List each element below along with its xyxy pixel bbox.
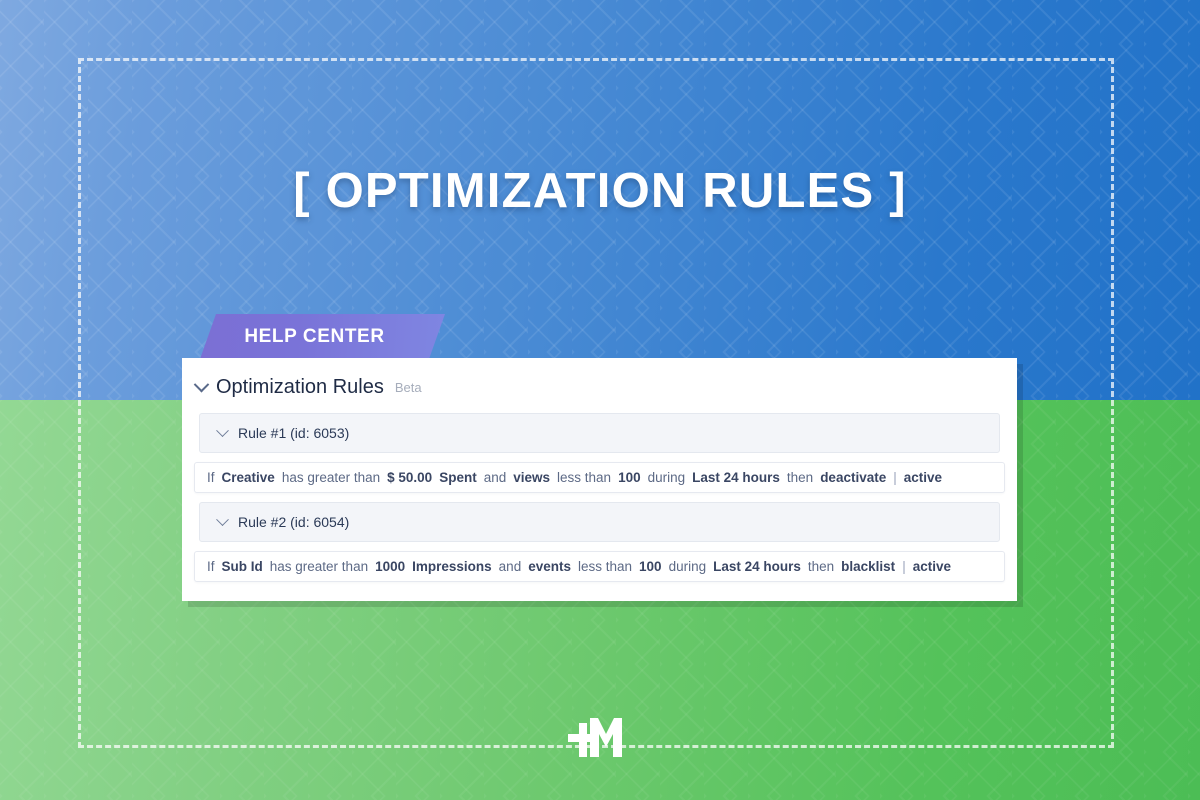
separator: | [902, 559, 906, 574]
rule-condition-1[interactable]: If Creative has greater than $ 50.00 Spe… [194, 462, 1005, 493]
card-body: Rule #1 (id: 6053) If Creative has great… [182, 399, 1017, 582]
rule-operator-2[interactable]: less than [578, 559, 632, 574]
card-header[interactable]: Optimization Rules Beta [182, 358, 1017, 399]
rule-conjunction: and [484, 470, 507, 485]
page-root: [ OPTIMIZATION RULES ] HELP CENTER Optim… [0, 0, 1200, 800]
rule-header-label: Rule #1 (id: 6053) [238, 425, 349, 441]
rule-action[interactable]: blacklist [841, 559, 895, 574]
chevron-down-icon[interactable] [194, 377, 210, 393]
beta-badge: Beta [395, 380, 422, 395]
rule-header-2[interactable]: Rule #2 (id: 6054) [199, 502, 1000, 542]
rule-condition-2[interactable]: If Sub Id has greater than 1000 Impressi… [194, 551, 1005, 582]
rule-status[interactable]: active [913, 559, 951, 574]
chevron-down-icon[interactable] [216, 513, 229, 526]
rule-operator-2[interactable]: less than [557, 470, 611, 485]
rule-action[interactable]: deactivate [820, 470, 886, 485]
help-center-ribbon-label: HELP CENTER [244, 326, 384, 348]
page-title: [ OPTIMIZATION RULES ] [0, 163, 1200, 219]
rule-metric-2[interactable]: views [513, 470, 550, 485]
card-title: Optimization Rules [216, 376, 384, 399]
during-keyword: during [648, 470, 686, 485]
rule-period[interactable]: Last 24 hours [692, 470, 780, 485]
separator: | [893, 470, 897, 485]
help-center-ribbon: HELP CENTER [200, 314, 445, 359]
rule-metric-2[interactable]: events [528, 559, 571, 574]
rule-operator[interactable]: has greater than [270, 559, 368, 574]
during-keyword: during [669, 559, 707, 574]
rule-header-label: Rule #2 (id: 6054) [238, 514, 349, 530]
rule-metric[interactable]: Impressions [412, 559, 492, 574]
rule-status[interactable]: active [904, 470, 942, 485]
if-keyword: If [207, 559, 215, 574]
rule-operator[interactable]: has greater than [282, 470, 380, 485]
chevron-down-icon[interactable] [216, 424, 229, 437]
rule-period[interactable]: Last 24 hours [713, 559, 801, 574]
then-keyword: then [808, 559, 834, 574]
rule-dimension[interactable]: Creative [222, 470, 275, 485]
if-keyword: If [207, 470, 215, 485]
plus-m-logo [568, 712, 632, 762]
rule-dimension[interactable]: Sub Id [222, 559, 263, 574]
rule-value-2[interactable]: 100 [618, 470, 641, 485]
rule-value[interactable]: 1000 [375, 559, 405, 574]
then-keyword: then [787, 470, 813, 485]
rule-header-1[interactable]: Rule #1 (id: 6053) [199, 413, 1000, 453]
rule-spacer [194, 493, 1005, 502]
rule-value-2[interactable]: 100 [639, 559, 662, 574]
rule-value[interactable]: $ 50.00 [387, 470, 432, 485]
rule-metric[interactable]: Spent [439, 470, 477, 485]
rule-conjunction: and [499, 559, 522, 574]
optimization-rules-card: Optimization Rules Beta Rule #1 (id: 605… [182, 358, 1017, 601]
